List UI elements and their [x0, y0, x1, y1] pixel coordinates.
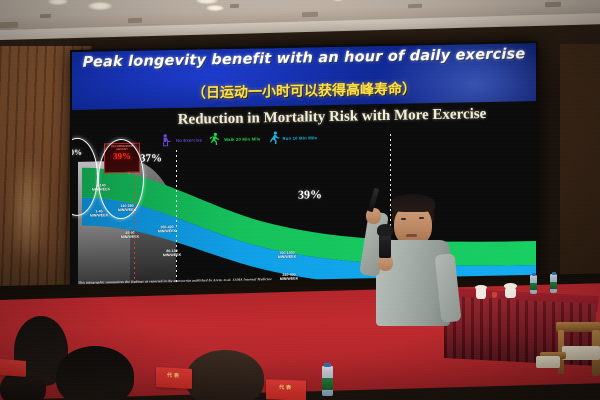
bottle-cap	[552, 272, 556, 275]
presenter-mouth	[406, 234, 417, 237]
infographic: Reduction in Mortality Risk with More Ex…	[72, 101, 536, 288]
photo-scene: Peak longevity benefit with an hour of d…	[0, 0, 600, 400]
right-wall	[560, 44, 600, 284]
callout-percent-39-right: 39%	[298, 187, 322, 202]
name-placard: 代表	[156, 367, 192, 389]
audience-head	[56, 346, 134, 400]
band-label-green-4: 700-1400 MIN/WEEK	[270, 251, 304, 260]
presenter-eye-left	[401, 218, 406, 220]
bottle-cap	[324, 363, 331, 367]
bottle-label	[322, 378, 333, 390]
teapot-lid	[504, 283, 517, 289]
bottle-label	[550, 282, 557, 289]
presenter-hair-top	[391, 194, 435, 212]
slide-surface: Peak longevity benefit with an hour of d…	[72, 43, 536, 288]
name-placard: 代表	[266, 379, 306, 400]
audience-head	[186, 350, 264, 400]
annotation-percent-20: 20%	[72, 148, 82, 157]
name-placard	[0, 359, 26, 377]
microphone-head	[377, 224, 393, 236]
small-cup	[492, 292, 497, 298]
teacup-lid	[475, 285, 487, 290]
presenter-eye-right	[419, 217, 424, 219]
chair-seat-cushion	[562, 346, 600, 360]
band-label-blue-3: 80-130 MIN/WEEK	[158, 249, 186, 258]
wall-light-glow	[8, 150, 48, 270]
placard-text: 代表	[156, 371, 192, 380]
bottle-cap	[532, 273, 536, 276]
chair-arm-pad	[536, 356, 560, 368]
projection-screen: Peak longevity benefit with an hour of d…	[70, 41, 538, 290]
bottle-label	[530, 283, 537, 290]
band-label-green-3: 350-420 MIN/WEEK	[152, 225, 182, 234]
placard-text: 代表	[266, 383, 306, 391]
reference-dotted-line	[176, 150, 177, 286]
ceiling-vent	[230, 4, 239, 8]
teapot	[505, 288, 516, 298]
band-label-blue-2: 45-90 MIN/WEEK	[116, 231, 144, 240]
ceiling-light	[88, 2, 112, 10]
callout-percent-37: 37%	[140, 152, 162, 164]
